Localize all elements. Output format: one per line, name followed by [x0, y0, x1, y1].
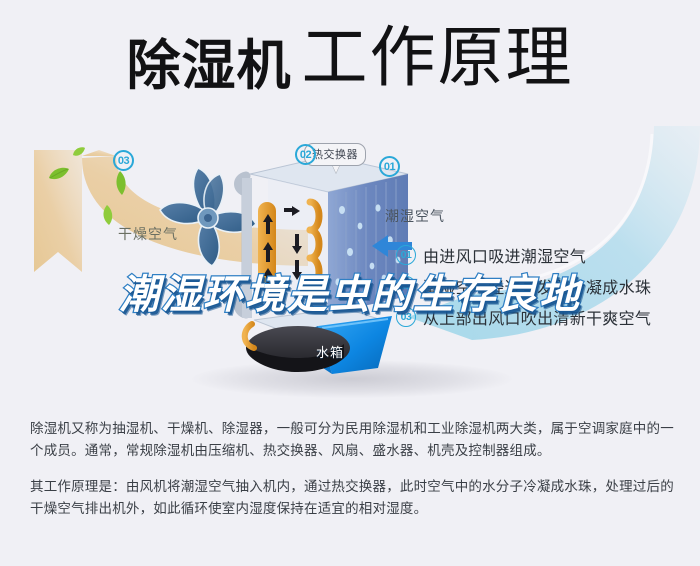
diagram-badge-02: 02	[295, 144, 316, 165]
body-copy: 除湿机又称为抽湿机、干燥机、除湿器，一般可分为民用除湿机和工业除湿机两大类，属于…	[30, 418, 675, 520]
leaf-icon	[72, 146, 86, 158]
page-title-part1: 除湿机	[127, 36, 292, 96]
body-paragraph-2: 其工作原理是：由风机将潮湿空气抽入机内，通过热交换器，此时空气中的水分子冷凝成水…	[30, 476, 675, 520]
moist-air-label: 潮湿空气	[385, 206, 445, 226]
overlay-headline: 潮湿环境是虫的生存良地	[0, 262, 700, 320]
leaf-icon	[112, 170, 130, 196]
body-paragraph-1: 除湿机又称为抽湿机、干燥机、除湿器，一般可分为民用除湿机和工业除湿机两大类，属于…	[30, 418, 675, 462]
page-title: 除湿机工作原理	[0, 24, 700, 93]
leaf-icon	[100, 204, 116, 226]
diagram-badge-01: 01	[379, 156, 400, 177]
diagram-badge-03: 03	[113, 150, 134, 171]
page-title-part2: 工作原理	[302, 20, 574, 94]
water-tank-label: 水箱	[316, 342, 344, 361]
leaf-icon	[48, 166, 70, 182]
dry-air-label: 干燥空气	[118, 224, 178, 244]
infographic-root: 除湿机工作原理	[0, 0, 700, 566]
